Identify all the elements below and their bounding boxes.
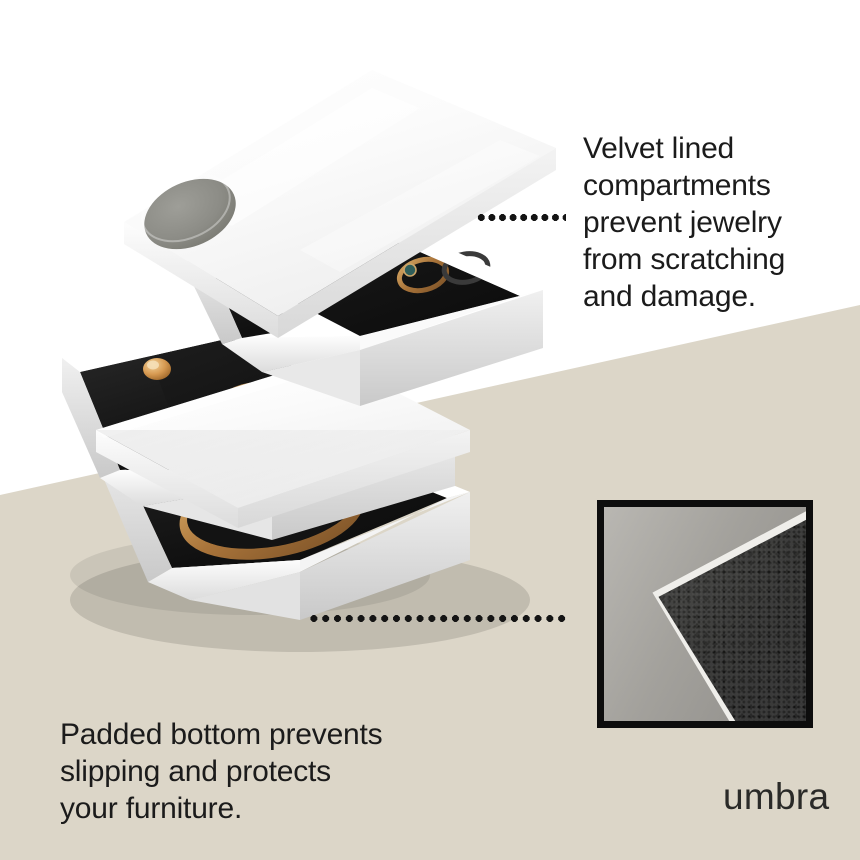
inset-photo-content [604,507,806,721]
callout-padded-bottom: Padded bottom prevents slipping and prot… [60,716,460,827]
product-feature-graphic: Velvet lined compartments prevent jewelr… [0,0,860,860]
padded-bottom-detail-photo [597,500,813,728]
dotted-leader-top [476,214,566,221]
callout-velvet-lined: Velvet lined compartments prevent jewelr… [583,130,853,315]
umbra-logo: umbra [723,778,829,815]
dotted-leader-bottom [308,615,566,622]
